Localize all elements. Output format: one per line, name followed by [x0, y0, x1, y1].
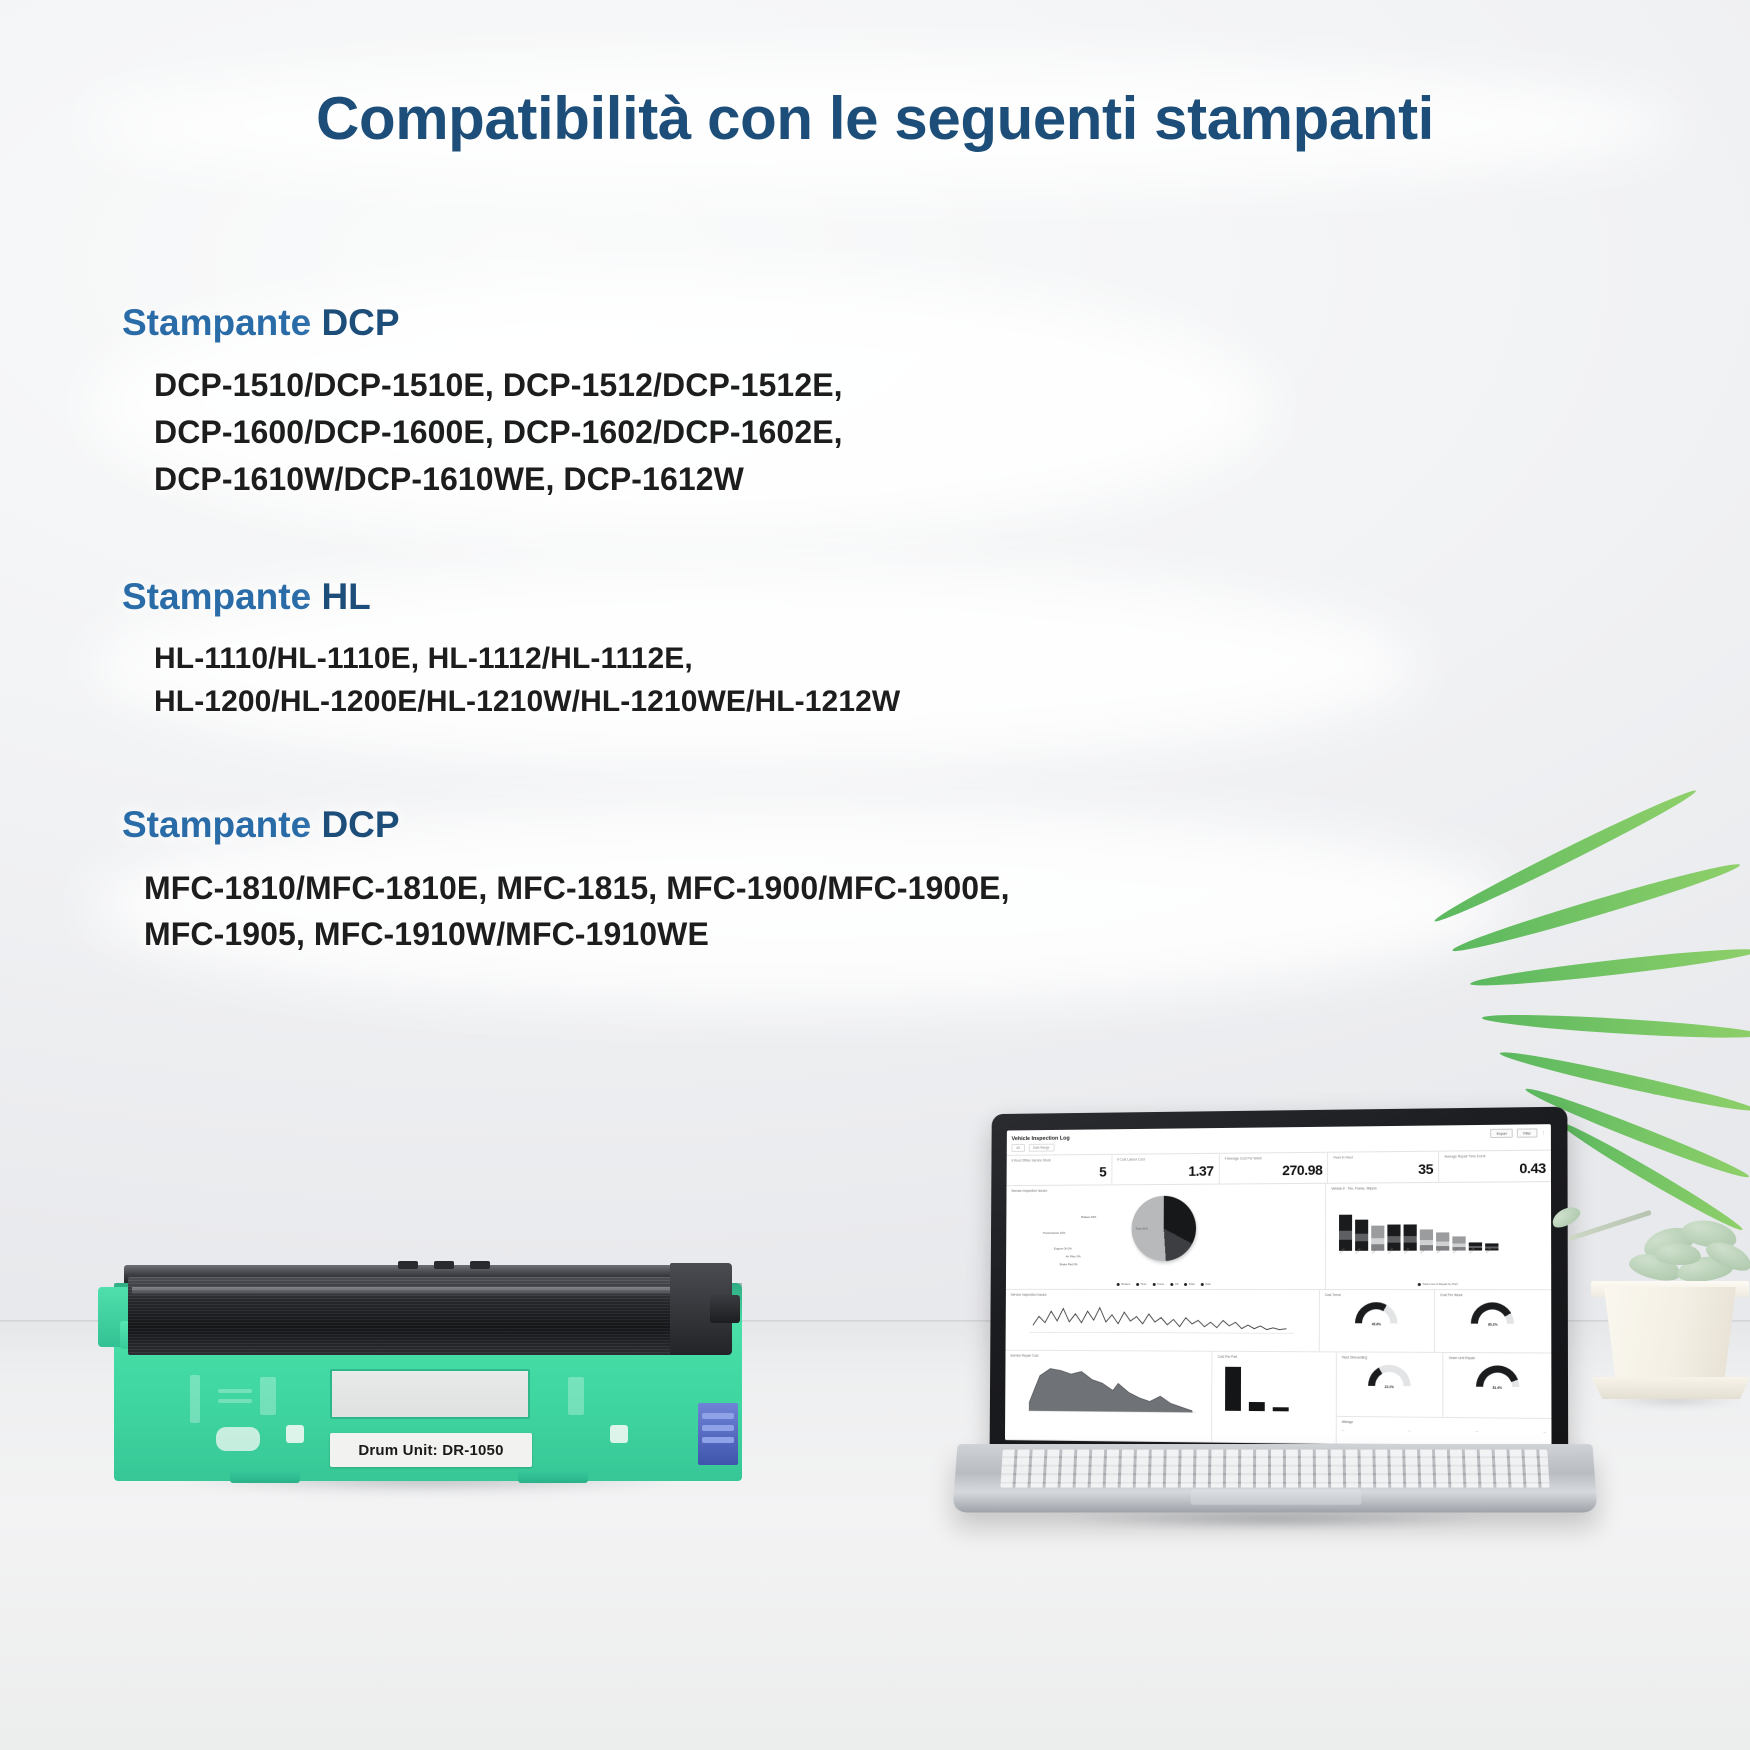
section-heading-dcp: Stampante DCP — [122, 300, 1622, 346]
plant-pot — [1595, 1287, 1745, 1383]
heading-model: DCP — [321, 302, 399, 343]
model-line: DCP-1610W/DCP-1610WE, DCP-1612W — [154, 456, 1622, 503]
laptop: Vehicle Inspection Log Export Filter ⋮ A… — [955, 1110, 1595, 1540]
kpi-card: # Root Offline Service Stock 5 — [1007, 1155, 1113, 1186]
drum-rib — [260, 1377, 276, 1415]
drum-rib — [568, 1377, 584, 1415]
gauge-stack: Fleet Onboarding 22.1% Order Unit Repair — [1336, 1353, 1551, 1446]
page-title: Compatibilità con le seguenti stampanti — [0, 84, 1750, 153]
panel-title: Order Unit Repair — [1449, 1356, 1546, 1361]
drum-peg — [610, 1425, 628, 1443]
section-heading-hl: Stampante HL — [122, 574, 1622, 620]
drum-unit-product: Drum Unit: DR-1050 — [98, 1225, 753, 1485]
gauge-chart: 45.6% — [1355, 1302, 1397, 1326]
model-line: DCP-1600/DCP-1600E, DCP-1602/DCP-1602E, — [154, 409, 1622, 456]
gauge-arc — [1368, 1365, 1411, 1387]
gauge-arc — [1476, 1366, 1519, 1388]
model-list-mfc: MFC-1810/MFC-1810E, MFC-1815, MFC-1900/M… — [144, 865, 1622, 958]
gauge-chart: 22.1% — [1368, 1365, 1411, 1390]
compatibility-sections: Stampante DCP DCP-1510/DCP-1510E, DCP-15… — [122, 300, 1622, 968]
kpi-label: # Cost Labour Cost — [1117, 1157, 1214, 1162]
dashboard-grid: Service Inspection Issues Brakes 33% Tra… — [1005, 1182, 1552, 1446]
panel-cost-trend-gauge: Cost Trend 45.6% — [1319, 1290, 1434, 1352]
export-button[interactable]: Export — [1490, 1129, 1512, 1139]
drum-rib — [218, 1399, 252, 1403]
panel-service-inspection-pie: Service Inspection Issues Brakes 33% Tra… — [1006, 1184, 1326, 1289]
dashboard-row: Service Repair Cost Cost Per Part — [1005, 1351, 1552, 1447]
drum-foot — [230, 1471, 300, 1483]
gauge-value: 60.2% — [1471, 1323, 1514, 1327]
panel-title: Cost Per Part — [1218, 1355, 1331, 1360]
panel-title: Service Repair Cost — [1010, 1354, 1206, 1359]
drum-roller-highlight — [132, 1287, 718, 1295]
section-mfc: Stampante DCP MFC-1810/MFC-1810E, MFC-18… — [122, 802, 1622, 958]
laptop-trackpad[interactable] — [1190, 1489, 1361, 1504]
panel-cost-per-part-bar: Cost Per Part — [1212, 1352, 1336, 1443]
model-line: HL-1200/HL-1200E/HL-1210W/HL-1210WE/HL-1… — [154, 680, 1622, 724]
kpi-label: # Root Offline Service Stock — [1011, 1158, 1106, 1163]
panel-cost-per-week-gauge: Cost Per Week 60.2% — [1435, 1290, 1551, 1352]
model-list-dcp: DCP-1510/DCP-1510E, DCP-1512/DCP-1512E, … — [154, 362, 1622, 502]
panel-title: Vehicle # - Tire, Frame, Wipers — [1331, 1185, 1546, 1191]
laptop-screen: Vehicle Inspection Log Export Filter ⋮ A… — [1005, 1124, 1552, 1447]
table-cell: — — [1408, 1429, 1411, 1433]
dashboard-row: Service Inspection Issues Cost Trend 45.… — [1006, 1290, 1552, 1354]
panel-title: Cost Trend — [1324, 1293, 1428, 1297]
model-line: MFC-1905, MFC-1910W/MFC-1910WE — [144, 911, 1622, 958]
drum-clip — [434, 1261, 454, 1269]
drum-clip — [398, 1261, 418, 1269]
section-dcp: Stampante DCP DCP-1510/DCP-1510E, DCP-15… — [122, 300, 1622, 502]
laptop-base — [952, 1444, 1597, 1512]
panel-mileage-table: Mileage — — — — — [1336, 1417, 1551, 1446]
filter-chip-all[interactable]: All — [1012, 1144, 1025, 1152]
pie-slice-label: Transmission 16% — [1043, 1231, 1066, 1235]
panel-title: Cost Per Week — [1440, 1293, 1546, 1297]
drum-drive-gear — [710, 1295, 740, 1323]
model-line: MFC-1810/MFC-1810E, MFC-1815, MFC-1900/M… — [144, 865, 1622, 912]
kpi-value: 270.98 — [1224, 1162, 1322, 1179]
kpi-card: # Average Cost Per Week 270.98 — [1219, 1153, 1328, 1185]
heading-word: Stampante — [122, 302, 311, 343]
pie-slice-label: Tires 51% — [1135, 1227, 1148, 1231]
filter-chip-date-range[interactable]: Date Range — [1028, 1144, 1054, 1152]
drum-hole — [216, 1427, 260, 1451]
gauge-chart: 81.4% — [1476, 1366, 1519, 1391]
kpi-label: # Average Cost Per Week — [1224, 1156, 1322, 1161]
gauge-arc — [1471, 1302, 1514, 1323]
laptop-keyboard[interactable] — [1000, 1450, 1549, 1488]
line-chart — [1010, 1299, 1313, 1336]
gauge-chart: 60.2% — [1471, 1302, 1514, 1327]
heading-word: Stampante — [122, 576, 311, 617]
gauge-value: 45.6% — [1355, 1322, 1397, 1326]
panel-inspection-line: Service Inspection Issues — [1006, 1290, 1320, 1351]
dashboard-title: Vehicle Inspection Log — [1012, 1135, 1070, 1142]
pot-saucer — [1585, 1377, 1750, 1399]
drum-foot — [518, 1471, 588, 1483]
panel-fleet-onboarding-gauge: Fleet Onboarding 22.1% — [1336, 1353, 1443, 1417]
panel-service-repair-cost-area: Service Repair Cost — [1005, 1351, 1213, 1442]
heading-model: DCP — [321, 804, 399, 845]
table-cell: — — [1341, 1428, 1344, 1432]
filter-button[interactable]: Filter — [1517, 1128, 1537, 1138]
drum-clip — [470, 1261, 490, 1269]
drum-rib — [218, 1389, 252, 1393]
table-cell: — — [1475, 1429, 1478, 1433]
panel-title: Service Inspection Issues — [1011, 1293, 1314, 1297]
drum-blue-slider — [698, 1403, 738, 1465]
pie-slice-label: Brake Pad 0% — [1060, 1262, 1078, 1266]
pie-legend: BrakesTiresTrans. OilFilterPad — [1006, 1282, 1325, 1286]
pie-slice-label: Engine Oil 0% — [1054, 1247, 1072, 1251]
model-line: DCP-1510/DCP-1510E, DCP-1512/DCP-1512E, — [154, 362, 1622, 409]
drum-window-cutout — [330, 1369, 530, 1419]
kpi-value: 1.37 — [1117, 1163, 1214, 1180]
kpi-value: 35 — [1333, 1161, 1433, 1178]
panel-title: Service Inspection Issues — [1011, 1187, 1320, 1193]
heading-model: HL — [321, 576, 370, 617]
plant-leaf — [1655, 1242, 1702, 1266]
laptop-lid: Vehicle Inspection Log Export Filter ⋮ A… — [990, 1107, 1569, 1460]
kpi-value: 5 — [1011, 1164, 1106, 1180]
model-list-hl: HL-1110/HL-1110E, HL-1112/HL-1112E, HL-1… — [154, 637, 1622, 725]
gauge-value: 22.1% — [1368, 1385, 1411, 1389]
dashboard-row: Service Inspection Issues Brakes 33% Tra… — [1006, 1182, 1551, 1290]
panel-order-unit-repair-gauge: Order Unit Repair 81.4% — [1444, 1353, 1552, 1418]
panel-vehicle-bar: Vehicle # - Tire, Frame, Wipers V-101V-1… — [1326, 1182, 1551, 1289]
bar-legend: Total cost of Repair by Part — [1326, 1282, 1551, 1286]
kpi-label: Fleet In Fleet — [1333, 1155, 1433, 1160]
bar-chart-2 — [1217, 1361, 1330, 1412]
section-heading-mfc: Stampante DCP — [122, 802, 1622, 848]
kpi-card: # Cost Labour Cost 1.37 — [1112, 1154, 1219, 1186]
gauge-value: 81.4% — [1476, 1386, 1519, 1390]
table-cell: — — [1543, 1430, 1546, 1434]
drum-peg — [286, 1425, 304, 1443]
kpi-card: Average Repair Time Event 0.43 — [1439, 1151, 1551, 1183]
kpi-row: # Root Offline Service Stock 5 # Cost La… — [1007, 1150, 1551, 1187]
drum-rib — [190, 1375, 200, 1423]
kebab-menu-icon[interactable]: ⋮ — [1541, 1130, 1546, 1136]
bar-axis-labels: V-101V-102V-103V-104V-105 V-106V-107V-10… — [1331, 1253, 1546, 1256]
pie-slice-label: Brakes 33% — [1081, 1215, 1096, 1219]
panel-title: Mileage — [1341, 1420, 1546, 1426]
kpi-card: Fleet In Fleet 35 — [1328, 1152, 1439, 1184]
pie-slice-label: Air Filter 0% — [1066, 1255, 1081, 1259]
section-hl: Stampante HL HL-1110/HL-1110E, HL-1112/H… — [122, 574, 1622, 724]
kpi-label: Average Repair Time Event — [1444, 1154, 1545, 1159]
heading-word: Stampante — [122, 804, 311, 845]
area-chart — [1010, 1360, 1207, 1415]
succulent-plant — [1585, 1195, 1750, 1415]
model-line: HL-1110/HL-1110E, HL-1112/HL-1112E, — [154, 637, 1622, 681]
dashboard-actions: Export Filter ⋮ — [1490, 1128, 1545, 1138]
gauge-arc — [1355, 1302, 1397, 1323]
dashboard: Vehicle Inspection Log Export Filter ⋮ A… — [1005, 1124, 1552, 1447]
drum-unit-label: Drum Unit: DR-1050 — [330, 1433, 532, 1467]
panel-title: Fleet Onboarding — [1341, 1356, 1437, 1361]
kpi-value: 0.43 — [1444, 1160, 1545, 1177]
